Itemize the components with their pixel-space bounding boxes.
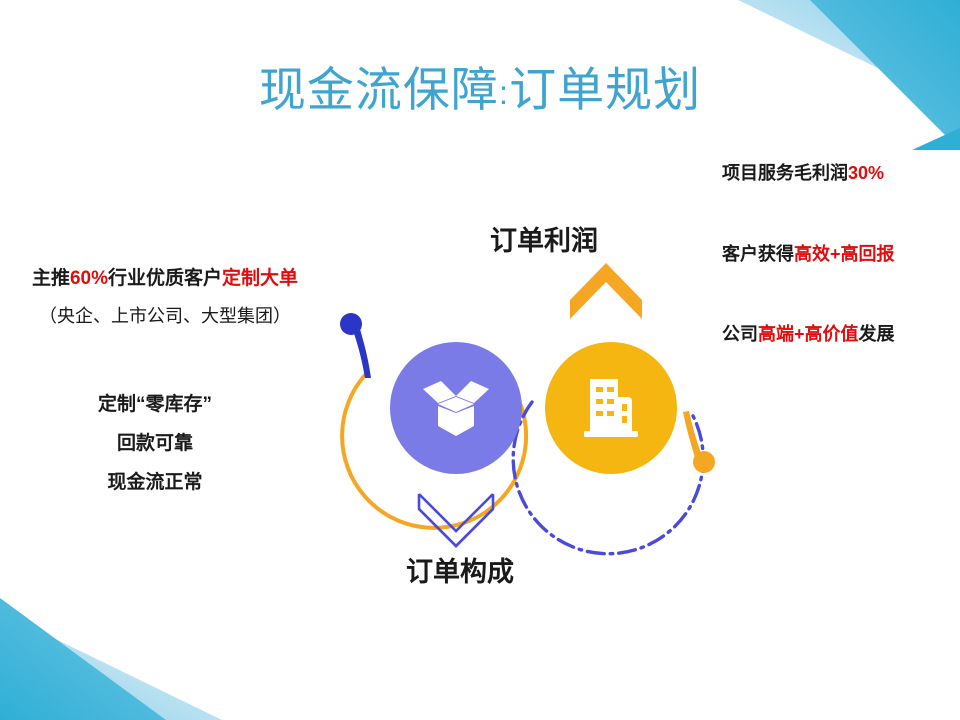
left-headline-seg-3: 行业优质客户 [108, 268, 222, 289]
label-order-composition: 订单构成 [300, 550, 620, 589]
chevron-down-icon [419, 494, 493, 546]
left-headline: 主推60%行业优质客户定制大单 [0, 266, 330, 292]
right-line2-seg-2: 高效+高回报 [794, 244, 895, 264]
left-headline-seg-4: 定制大单 [222, 268, 298, 289]
open-box-icon [419, 376, 493, 440]
arc-left-tail-dot [340, 313, 362, 335]
node-client-enterprise[interactable] [545, 342, 677, 474]
list-item: 现金流正常 [10, 464, 300, 503]
right-line3-seg-3: 发展 [859, 324, 895, 344]
left-subline: （央企、上市公司、大型集团） [0, 304, 330, 328]
page-title-rest: 订单规划 [509, 63, 701, 116]
right-line1-seg-1: 项目服务毛利润 [722, 163, 848, 183]
right-line1-seg-2: 30% [848, 163, 884, 183]
slide-canvas: 现金流保障:订单规划 主推60%行业优质客户定制大单 （央企、上市公司、大型集团… [0, 0, 960, 720]
page-title-separator: : [499, 74, 509, 111]
right-benefit-line-3: 公司高端+高价值发展 [722, 324, 960, 346]
list-item: 定制“零库存” [10, 386, 300, 425]
right-benefit-line-1: 项目服务毛利润30% [722, 163, 960, 185]
deco-band-teal-tip [912, 128, 960, 150]
page-title: 现金流保障:订单规划 [0, 64, 960, 116]
left-headline-seg-2: 60% [70, 268, 108, 289]
arc-right-tail-dot [693, 451, 715, 473]
list-item: 回款可靠 [10, 425, 300, 464]
deco-band-pale [0, 612, 222, 720]
office-building-icon [576, 373, 646, 443]
right-benefit-line-2: 客户获得高效+高回报 [722, 244, 960, 266]
arc-left-tail [353, 329, 371, 378]
chevron-up-icon [570, 263, 642, 319]
right-benefit-list: 项目服务毛利润30% 客户获得高效+高回报 公司高端+高价值发展 [722, 163, 960, 346]
corner-decoration-bottom-left [0, 570, 300, 720]
right-line3-seg-2: 高端+高价值 [758, 324, 859, 344]
left-headline-seg-1: 主推 [32, 268, 70, 289]
label-order-profit: 订单利润 [490, 219, 730, 258]
deco-band-teal [0, 598, 166, 720]
node-order-composition[interactable] [390, 342, 522, 474]
page-title-main: 现金流保障 [259, 63, 499, 116]
left-bullet-list: 定制“零库存” 回款可靠 现金流正常 [10, 386, 300, 503]
cycle-diagram: 订单利润 订单构成 [330, 206, 730, 606]
right-line2-seg-1: 客户获得 [722, 244, 794, 264]
